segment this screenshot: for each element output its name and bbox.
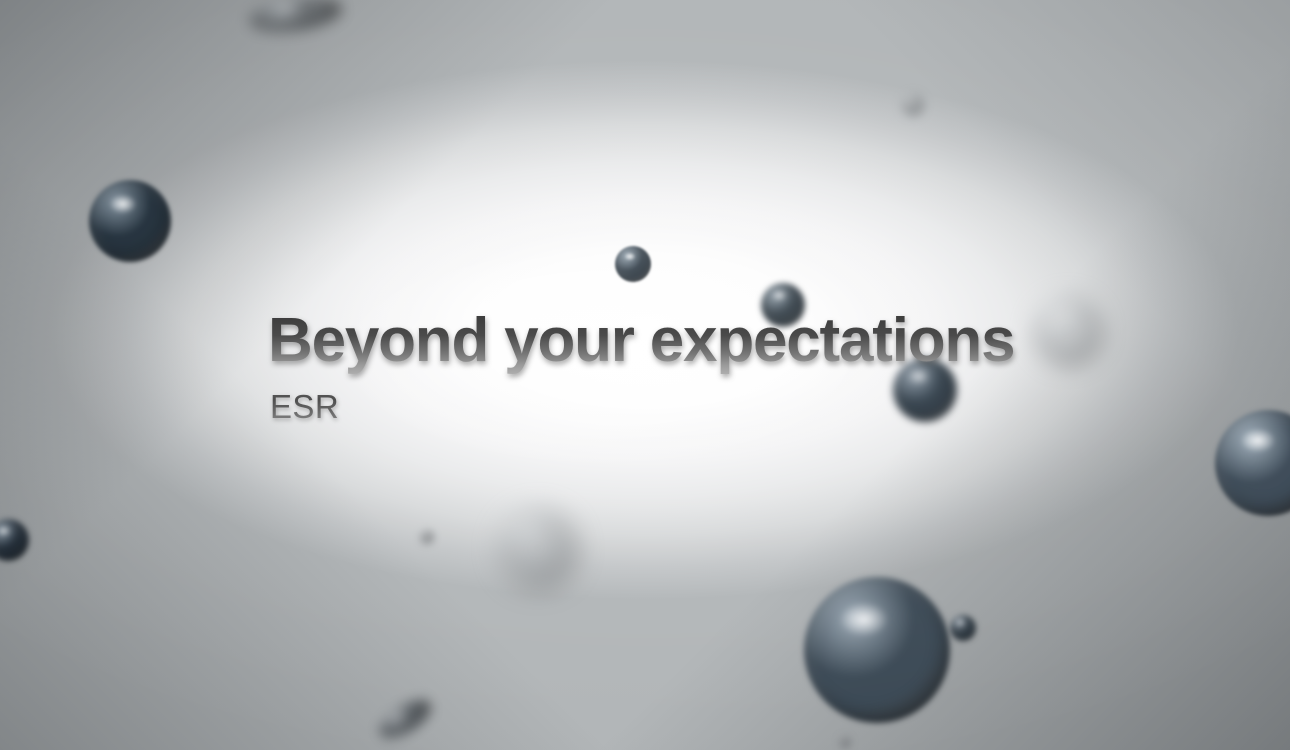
title-block: Beyond your expectations ESR bbox=[268, 305, 1014, 425]
page-title: Beyond your expectations bbox=[268, 305, 1014, 377]
page-subtitle: ESR bbox=[270, 389, 1014, 425]
title-card-stage: Beyond your expectations ESR bbox=[0, 0, 1290, 750]
